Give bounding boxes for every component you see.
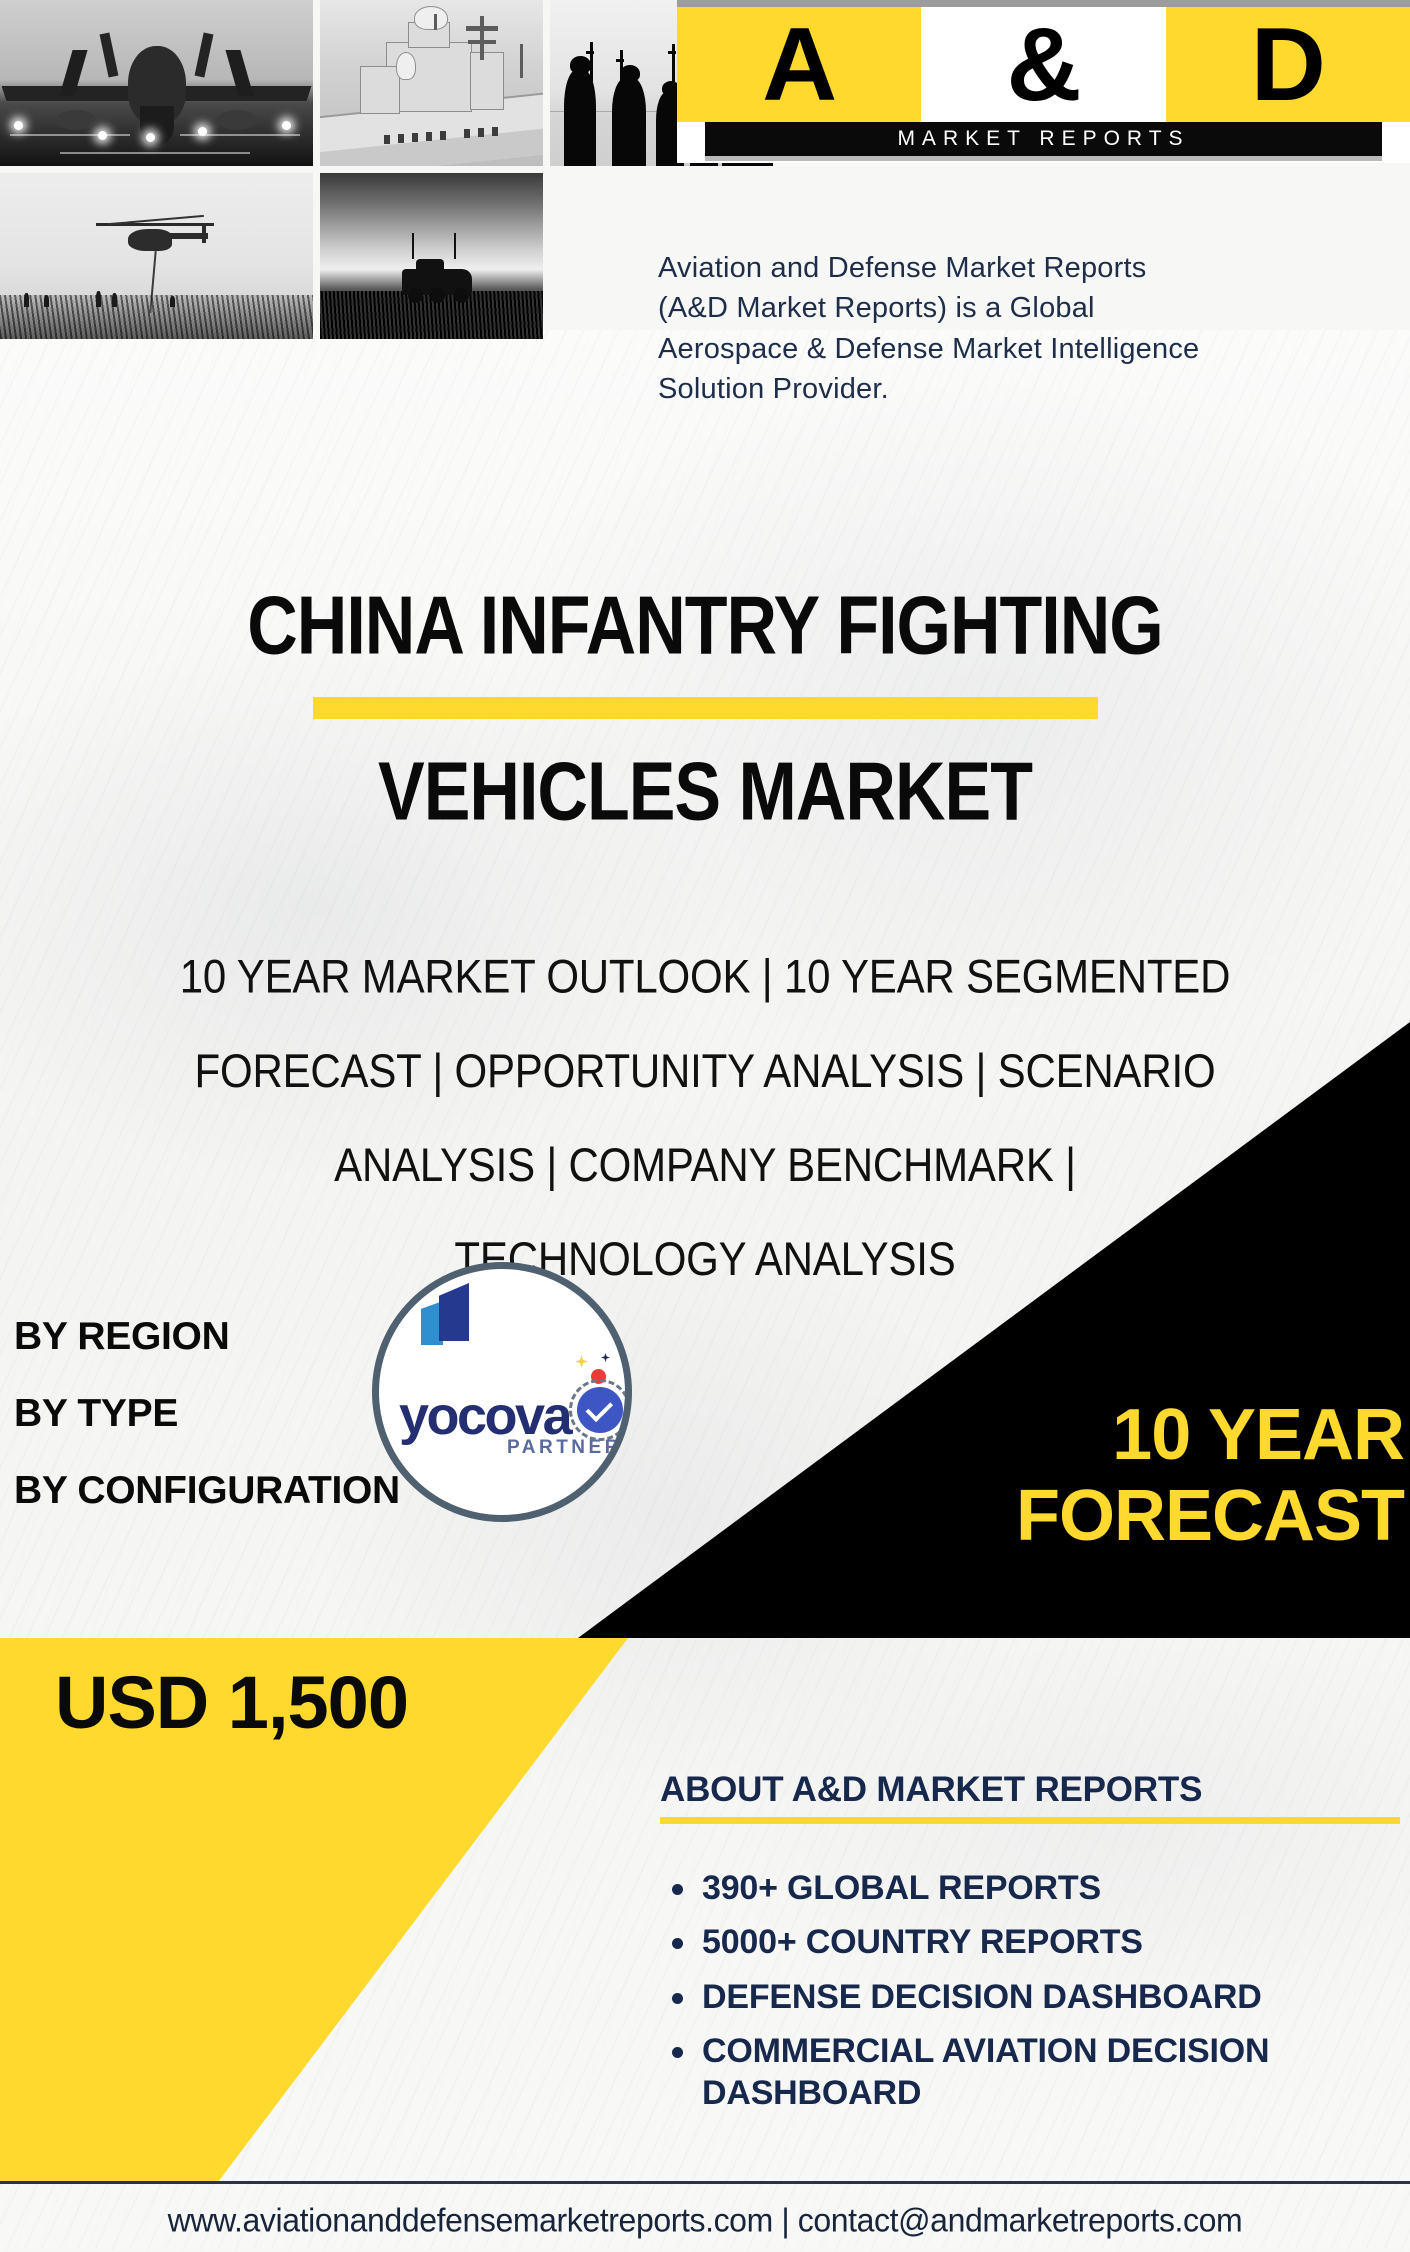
list-item: 5000+ COUNTRY REPORTS <box>660 1922 1400 1963</box>
yocova-mark-icon <box>421 1283 487 1345</box>
intro-line-1: Aviation and Defense Market Reports <box>658 248 1410 288</box>
logo-cell-a: A <box>677 7 921 122</box>
logo-top-rule <box>677 0 1410 7</box>
report-title: CHINA INFANTRY FIGHTING VEHICLES MARKET <box>0 585 1410 819</box>
segmentation-item-region: BY REGION <box>14 1315 400 1359</box>
intro-line-2: (A&D Market Reports) is a Global <box>658 288 1410 328</box>
footer-contact[interactable]: www.aviationanddefensemarketreports.com … <box>0 2189 1410 2252</box>
about-yellow-rule <box>660 1817 1400 1824</box>
logo-cell-d: D <box>1166 7 1410 122</box>
segmentation-item-type: BY TYPE <box>14 1392 400 1436</box>
list-item: 390+ GLOBAL REPORTS <box>660 1868 1400 1909</box>
price-label: USD 1,500 <box>55 1660 408 1745</box>
logo-cell-ampersand: & <box>921 7 1165 122</box>
segmentation-item-configuration: BY CONFIGURATION <box>14 1469 400 1513</box>
title-line-2: VEHICLES MARKET <box>0 751 1410 832</box>
logo-letter-row: A & D <box>677 7 1410 122</box>
subtitle-line-3: ANALYSIS | COMPANY BENCHMARK | <box>40 1118 1370 1212</box>
yocova-wordmark: yocova <box>399 1389 589 1443</box>
list-item: DEFENSE DECISION DASHBOARD <box>660 1977 1400 2018</box>
intro-line-3: Aerospace & Defense Market Intelligence <box>658 329 1410 369</box>
about-bullet-list: 390+ GLOBAL REPORTS 5000+ COUNTRY REPORT… <box>660 1868 1400 2114</box>
forecast-line-2: FORECAST <box>884 1476 1404 1557</box>
sparkle-navy-icon <box>601 1353 610 1362</box>
sparkle-yellow-icon <box>575 1355 588 1368</box>
report-subtitle: 10 YEAR MARKET OUTLOOK | 10 YEAR SEGMENT… <box>40 930 1370 1306</box>
logo-bottom-rule <box>705 156 1382 161</box>
forecast-callout: 10 YEAR FORECAST <box>884 1395 1404 1556</box>
subtitle-line-1: 10 YEAR MARKET OUTLOOK | 10 YEAR SEGMENT… <box>40 930 1370 1024</box>
photo-helicopter <box>0 173 313 339</box>
photo-fighter-jet <box>0 0 313 166</box>
list-item: COMMERCIAL AVIATION DECISION DASHBOARD <box>660 2031 1400 2114</box>
footer-divider <box>0 2181 1410 2184</box>
title-line-1: CHINA INFANTRY FIGHTING <box>0 585 1410 666</box>
subtitle-line-2: FORECAST | OPPORTUNITY ANALYSIS | SCENAR… <box>40 1024 1370 1118</box>
logo-letter-d: D <box>1251 13 1325 117</box>
about-heading: ABOUT A&D MARKET REPORTS <box>660 1770 1400 1810</box>
logo-subtitle-bar: MARKET REPORTS <box>705 122 1382 156</box>
intro-line-4: Solution Provider. <box>658 369 1410 409</box>
logo-subtitle-text: MARKET REPORTS <box>897 127 1189 151</box>
yocova-partner-badge: yocova PARTNER <box>372 1262 632 1522</box>
logo-letter-ampersand: & <box>1006 13 1080 117</box>
company-intro-paragraph: Aviation and Defense Market Reports (A&D… <box>658 248 1410 409</box>
ad-market-reports-logo: A & D MARKET REPORTS <box>677 0 1410 163</box>
segmentation-list: BY REGION BY TYPE BY CONFIGURATION <box>14 1315 400 1546</box>
title-yellow-rule <box>313 697 1098 719</box>
forecast-line-1: 10 YEAR <box>884 1395 1404 1476</box>
photo-naval-warship <box>320 0 543 166</box>
subtitle-line-4: TECHNOLOGY ANALYSIS <box>40 1212 1370 1306</box>
about-section: ABOUT A&D MARKET REPORTS 390+ GLOBAL REP… <box>660 1770 1400 2127</box>
verified-check-seal-icon <box>569 1379 631 1441</box>
logo-letter-a: A <box>762 13 836 117</box>
photo-armored-vehicle <box>320 173 543 339</box>
